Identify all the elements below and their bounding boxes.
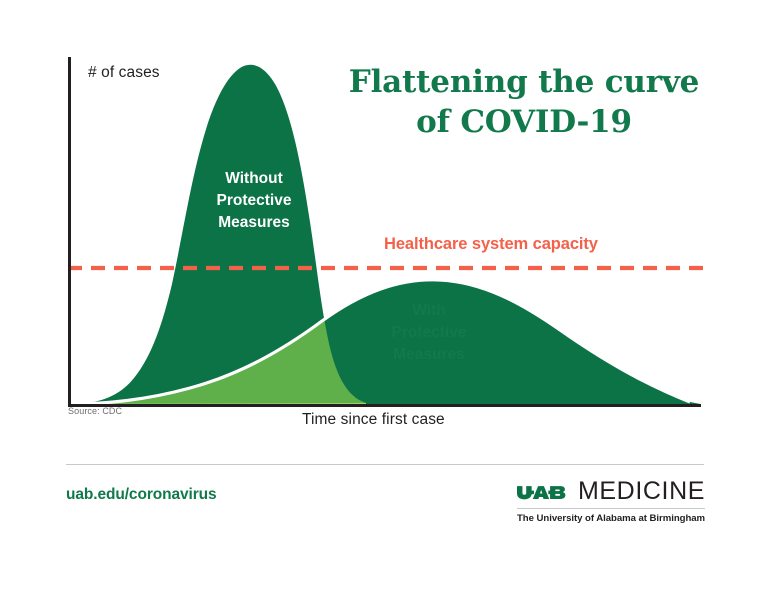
coronavirus-site-link[interactable]: uab.edu/coronavirus bbox=[66, 486, 217, 504]
with-protective-measures-label: With Protective Measures bbox=[374, 300, 484, 366]
page-title: Flattening the curveof COVID-19 bbox=[338, 63, 710, 142]
chart-area: # of cases Time since first case Source:… bbox=[0, 0, 768, 450]
logo-wordmark-row: MEDICINE bbox=[517, 478, 705, 504]
logo-divider bbox=[517, 508, 705, 509]
y-axis-label: # of cases bbox=[88, 64, 160, 82]
footer-divider bbox=[66, 464, 704, 465]
without-protective-measures-label: Without Protective Measures bbox=[199, 168, 309, 234]
logo-medicine-word: MEDICINE bbox=[578, 479, 705, 504]
logo-tagline: The University of Alabama at Birmingham bbox=[517, 513, 705, 524]
source-note: Source: CDC bbox=[68, 406, 122, 416]
uab-mark-icon bbox=[517, 481, 573, 502]
uab-medicine-logo: MEDICINE The University of Alabama at Bi… bbox=[517, 478, 705, 524]
flatten-the-curve-infographic: # of cases Time since first case Source:… bbox=[0, 0, 768, 593]
healthcare-capacity-label: Healthcare system capacity bbox=[384, 235, 598, 254]
x-axis-label: Time since first case bbox=[302, 411, 445, 429]
